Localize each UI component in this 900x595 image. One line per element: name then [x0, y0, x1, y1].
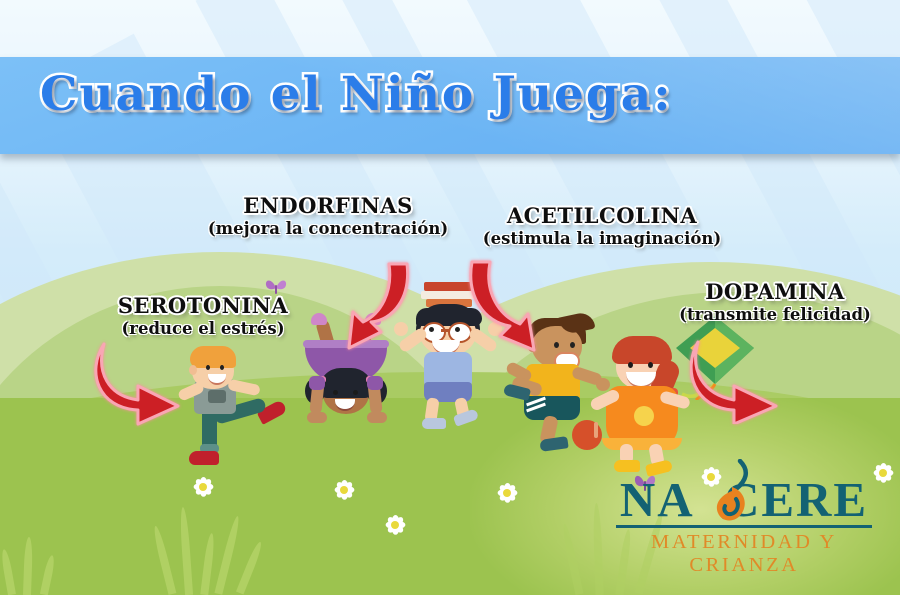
label-acetilcolina: ACETILCOLINA (estimula la imaginación)	[466, 203, 738, 248]
label-acetilcolina-subtitle: (estimula la imaginación)	[466, 229, 738, 248]
daisy-flower	[192, 476, 214, 498]
grass-tuft	[150, 505, 270, 595]
eye	[570, 342, 575, 348]
eye	[353, 390, 358, 395]
hair	[319, 368, 373, 398]
hair	[612, 336, 672, 364]
arrow-endorfinas	[327, 258, 413, 358]
grass-tuft	[0, 535, 80, 595]
eye	[333, 390, 338, 395]
torso-shirt	[424, 352, 472, 386]
daisy-flower	[496, 482, 518, 504]
shoe	[189, 451, 219, 465]
arrow-serotonina	[92, 338, 210, 426]
daisy-flower	[384, 514, 406, 536]
shirt-logo	[208, 390, 226, 403]
logo-brand-part1: NA	[620, 472, 695, 527]
label-serotonina-subtitle: (reduce el estrés)	[98, 319, 308, 338]
label-serotonina: SEROTONINA (reduce el estrés)	[98, 293, 308, 338]
label-endorfinas-headline: ENDORFINAS	[180, 193, 476, 218]
eye	[220, 365, 224, 370]
sleeve	[309, 376, 325, 390]
eye	[429, 327, 434, 332]
label-endorfinas: ENDORFINAS (mejora la concentración)	[180, 193, 476, 238]
arrow-dopamina	[690, 338, 802, 424]
shoe	[422, 418, 446, 429]
logo-swirl-icon	[706, 459, 760, 543]
brand-logo[interactable]: NASCERE MATERNIDAD Y CRIANZA	[610, 475, 878, 577]
logo-brand-name: NASCERE	[610, 475, 878, 524]
page-title: Cuando el Niño Juega:	[40, 67, 673, 122]
infographic-canvas: SEROTONINA (reduce el estrés) ENDORFINAS…	[0, 0, 900, 595]
glasses-bridge-icon	[441, 329, 450, 332]
book	[424, 282, 472, 291]
label-dopamina: DOPAMINA (transmite felicidad)	[666, 279, 884, 324]
label-acetilcolina-headline: ACETILCOLINA	[466, 203, 738, 228]
sleeve	[367, 376, 383, 390]
eye	[455, 327, 460, 332]
label-serotonina-headline: SEROTONINA	[98, 293, 308, 318]
hand	[367, 412, 387, 423]
title-banner: Cuando el Niño Juega:	[0, 57, 900, 154]
arrow-acetilcolina	[466, 256, 556, 358]
label-dopamina-subtitle: (transmite felicidad)	[666, 305, 884, 324]
dress-flower	[634, 406, 654, 426]
eye	[648, 362, 653, 368]
dress-hem	[602, 438, 682, 450]
hand	[307, 412, 327, 423]
daisy-flower	[333, 479, 355, 501]
eye	[628, 362, 633, 368]
label-endorfinas-subtitle: (mejora la concentración)	[180, 219, 476, 238]
foot	[311, 313, 327, 325]
label-dopamina-headline: DOPAMINA	[666, 279, 884, 304]
